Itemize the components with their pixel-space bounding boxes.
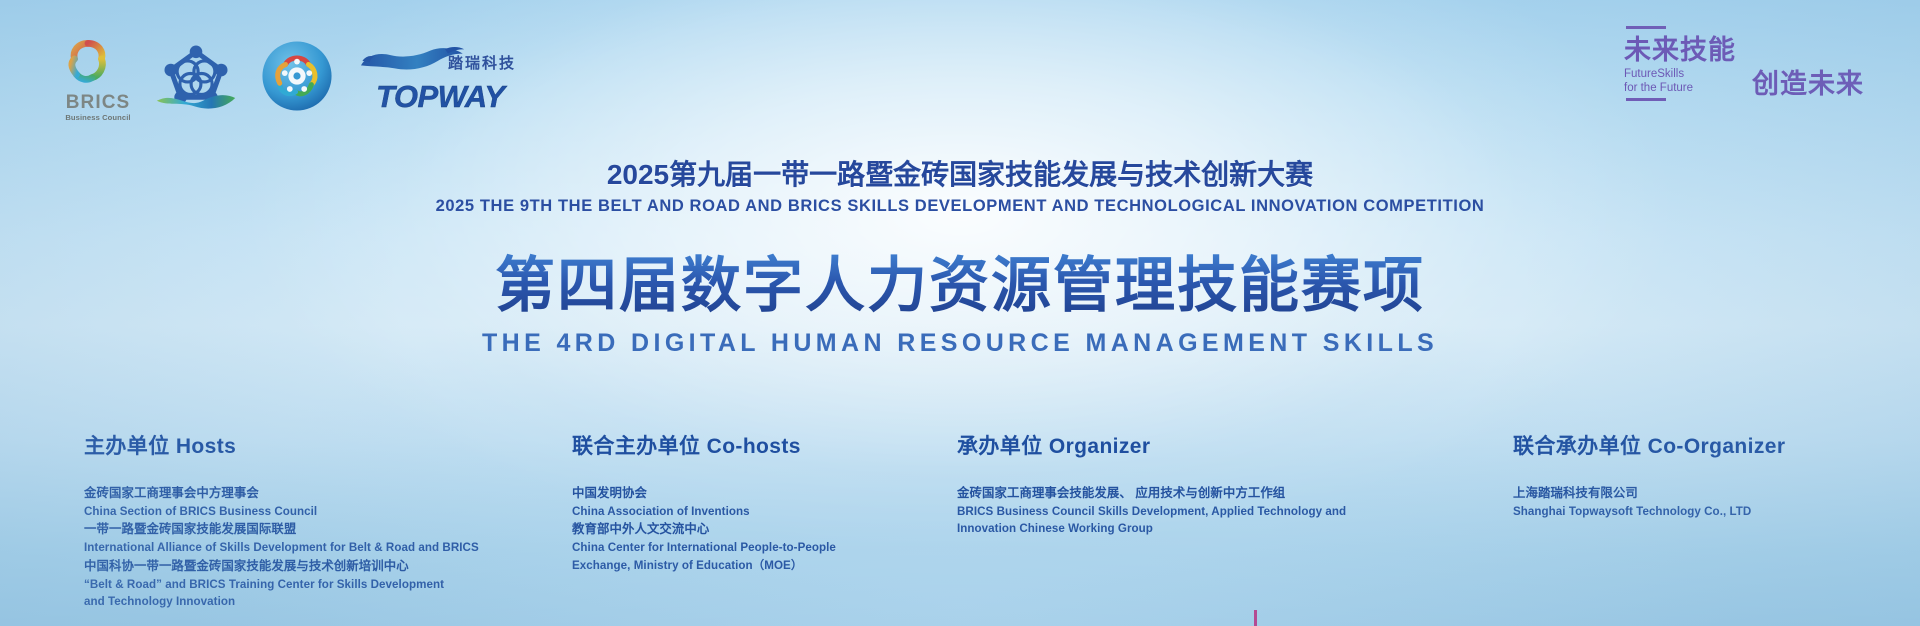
organizer-line-cn: 中国发明协会 [572,484,892,503]
organizer-line-en: BRICS Business Council Skills Developmen… [957,503,1387,521]
organizer-line-en: China Center for International People-to… [572,539,892,557]
event-subtitle: 第四届数字人力资源管理技能赛项 THE 4RD DIGITAL HUMAN RE… [0,252,1920,358]
brics-star-icon [62,36,114,86]
organizer-line-en: China Association of Inventions [572,503,892,521]
organizer-columns: 主办单位 Hosts 金砖国家工商理事会中方理事会China Section o… [0,430,1920,620]
future-skills-slogan: 未来技能 FutureSkills for the Future 创造未来 [1624,26,1864,101]
slogan-english: FutureSkills for the Future [1624,68,1693,98]
skills-star-emblem-icon [260,40,334,112]
event-subtitle-en: THE 4RD DIGITAL HUMAN RESOURCE MANAGEMEN… [0,329,1920,358]
topway-logo: 踏瑞科技 TOPWAY [358,46,518,112]
organizer-line-cn: 一带一路暨金砖国家技能发展国际联盟 [84,520,514,539]
slogan-line-1: 未来技能 [1624,36,1864,64]
organizer-heading: 主办单位 Hosts [84,430,514,460]
organizer-line-en: “Belt & Road” and BRICS Training Center … [84,576,514,594]
organizer-line-cn: 教育部中外人文交流中心 [572,520,892,539]
organizer-line-en: Exchange, Ministry of Education（MOE） [572,557,892,575]
belt-road-brics-alliance-logo [154,42,238,112]
bottom-center-tick-mark [1254,610,1257,626]
slogan-top-rule [1626,26,1666,29]
brics-sub-wordmark: Business Council [62,114,134,122]
slogan-bottom-rule [1626,98,1666,101]
organizer-lines: 上海踏瑞科技有限公司Shanghai Topwaysoft Technology… [1513,484,1893,520]
organizer-line-en: and Technology Innovation [84,593,514,611]
competition-title-en: 2025 THE 9TH THE BELT AND ROAD AND BRICS… [0,197,1920,216]
organizer-line-cn: 上海踏瑞科技有限公司 [1513,484,1893,503]
organizer-lines: 金砖国家工商理事会技能发展、 应用技术与创新中方工作组BRICS Busines… [957,484,1387,538]
poster-banner: BRICS Business Council [0,0,1920,626]
competition-title: 2025第九届一带一路暨金砖国家技能发展与技术创新大赛 2025 THE 9TH… [0,160,1920,216]
organizer-lines: 中国发明协会China Association of Inventions教育部… [572,484,892,575]
slogan-line-2: 创造未来 [1752,70,1864,98]
organizer-line-cn: 中国科协一带一路暨金砖国家技能发展与技术创新培训中心 [84,557,514,576]
organizer-line-en: Shanghai Topwaysoft Technology Co., LTD [1513,503,1893,521]
organizer-column-organizer: 承办单位 Organizer 金砖国家工商理事会技能发展、 应用技术与创新中方工… [957,430,1387,538]
event-subtitle-cn: 第四届数字人力资源管理技能赛项 [0,252,1920,319]
organizer-line-cn: 金砖国家工商理事会中方理事会 [84,484,514,503]
topway-english-wordmark: TOPWAY [376,81,504,112]
organizer-line-cn: 金砖国家工商理事会技能发展、 应用技术与创新中方工作组 [957,484,1387,503]
topway-chinese-wordmark: 踏瑞科技 [448,52,516,73]
organizer-line-en: International Alliance of Skills Develop… [84,539,514,557]
organizer-column-cohosts: 联合主办单位 Co-hosts 中国发明协会China Association … [572,430,892,575]
organizer-column-hosts: 主办单位 Hosts 金砖国家工商理事会中方理事会China Section o… [84,430,514,611]
sponsor-logo-row: BRICS Business Council [62,36,518,112]
competition-title-cn: 2025第九届一带一路暨金砖国家技能发展与技术创新大赛 [0,160,1920,191]
organizer-heading: 联合承办单位 Co-Organizer [1513,430,1893,460]
brics-wordmark: BRICS [62,93,134,112]
alliance-emblem-icon [154,42,238,112]
organizer-line-en: Innovation Chinese Working Group [957,520,1387,538]
skills-star-emblem-logo [260,40,334,112]
organizer-lines: 金砖国家工商理事会中方理事会China Section of BRICS Bus… [84,484,514,611]
brics-business-council-logo: BRICS Business Council [62,36,134,112]
organizer-column-co-organizer: 联合承办单位 Co-Organizer 上海踏瑞科技有限公司Shanghai T… [1513,430,1893,520]
organizer-heading: 联合主办单位 Co-hosts [572,430,892,460]
organizer-line-en: China Section of BRICS Business Council [84,503,514,521]
organizer-heading: 承办单位 Organizer [957,430,1387,460]
